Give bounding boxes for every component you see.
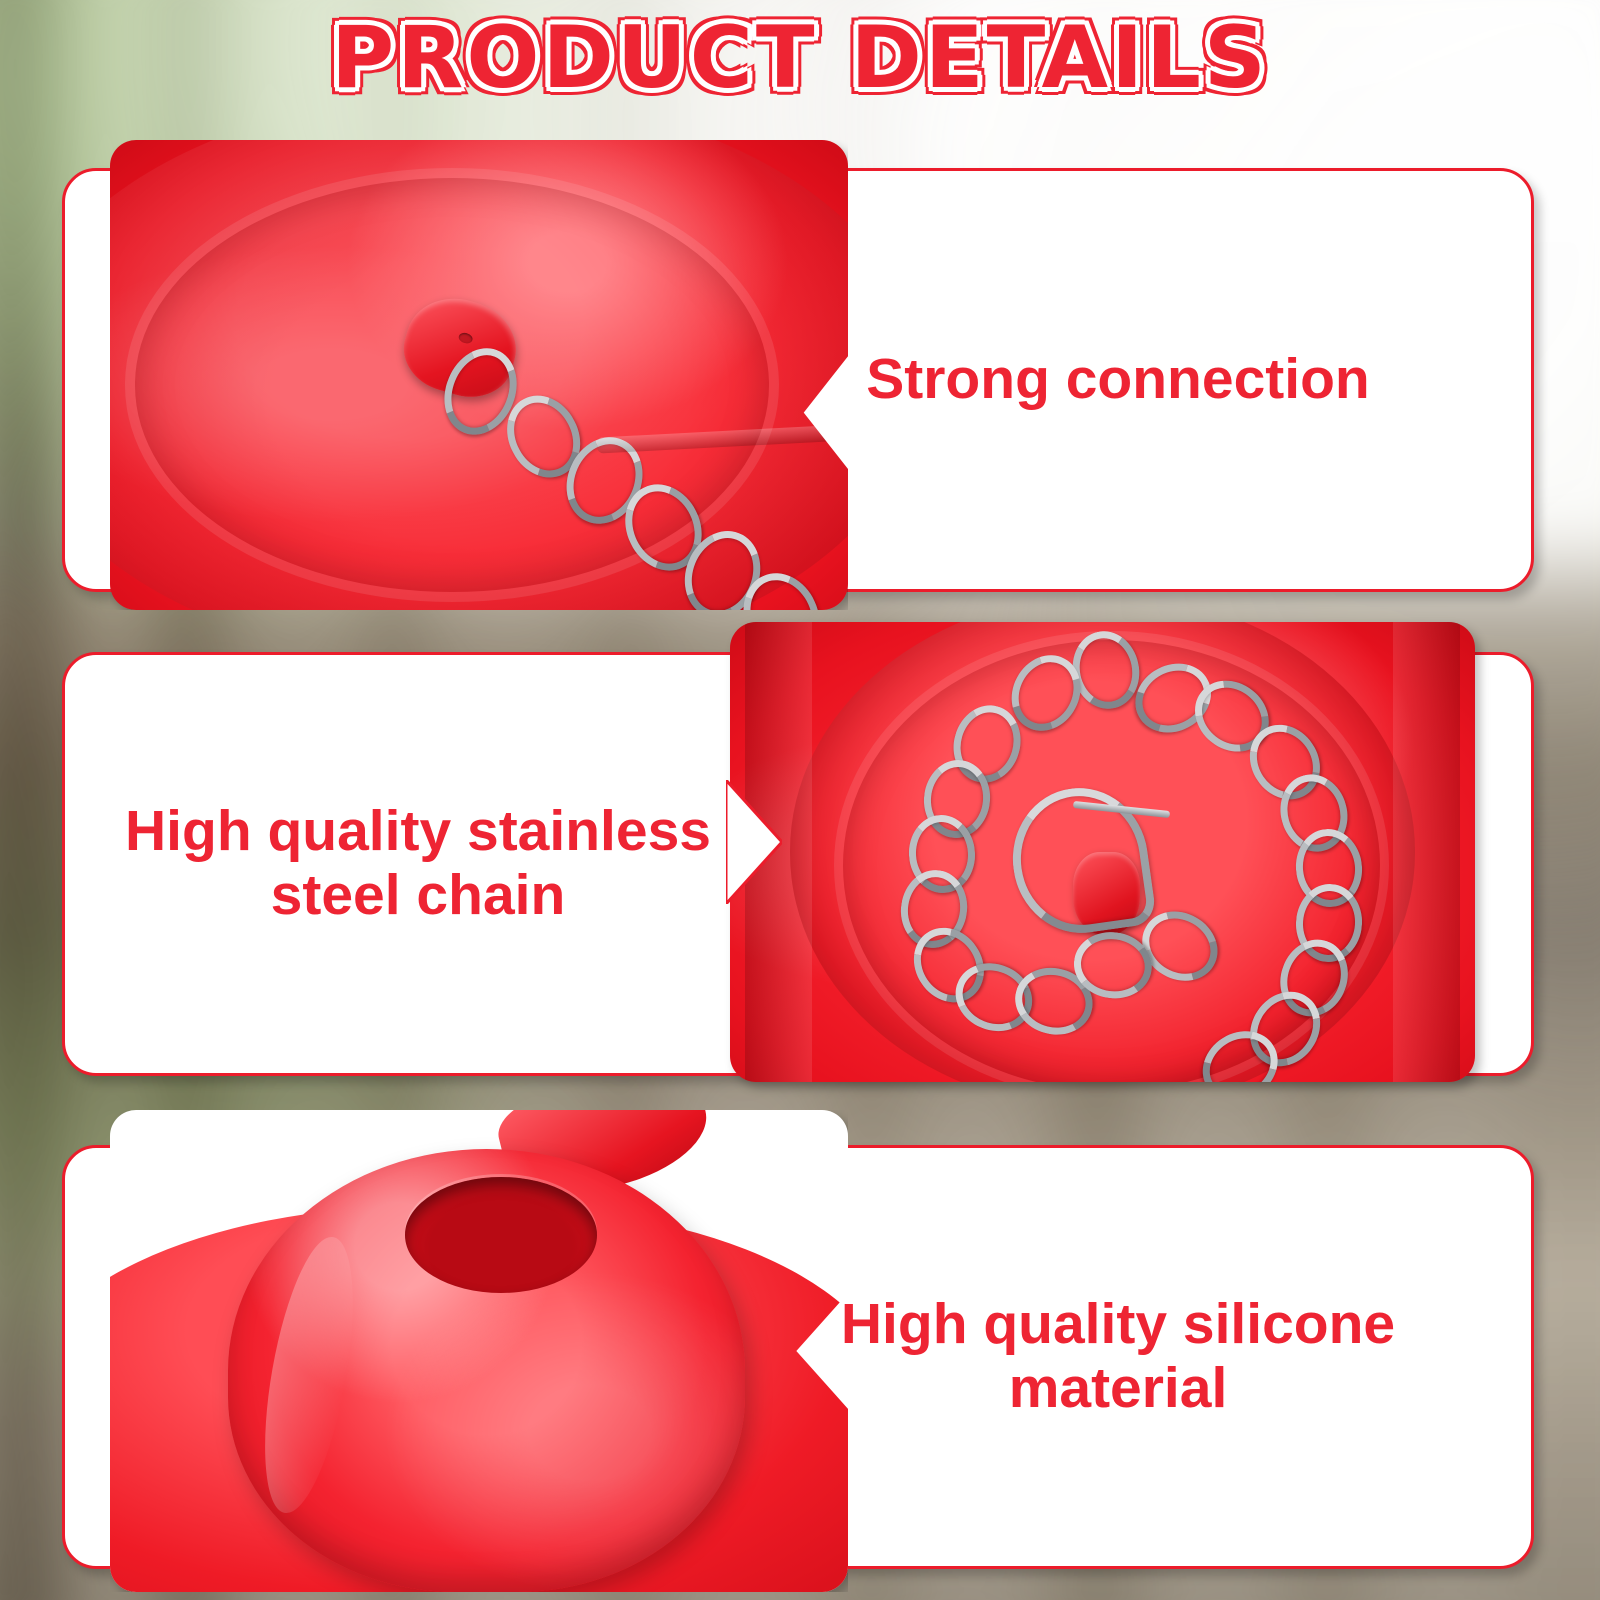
photo1-silicone-surface xyxy=(110,140,848,610)
photo3-backdrop xyxy=(110,1110,848,1592)
feature-caption-stainless-steel-chain: High quality stainless steel chain xyxy=(65,800,771,928)
feature-caption-silicone-material: High quality silicone material xyxy=(752,1293,1484,1421)
chain-on-lid-photo xyxy=(730,622,1475,1082)
callout-notch-row2 xyxy=(726,780,782,904)
photo3-dome-opening xyxy=(405,1177,597,1293)
silicone-dome-photo xyxy=(110,1110,848,1592)
page-title: PRODUCT DETAILS xyxy=(0,8,1600,108)
photo2-silicone-surface xyxy=(730,622,1475,1082)
photo2-right-rib xyxy=(1393,622,1460,1082)
feature-caption-strong-connection: Strong connection xyxy=(772,348,1464,412)
photo1-tab-pinhole xyxy=(458,331,475,345)
lid-chain-attachment-photo xyxy=(110,140,848,610)
